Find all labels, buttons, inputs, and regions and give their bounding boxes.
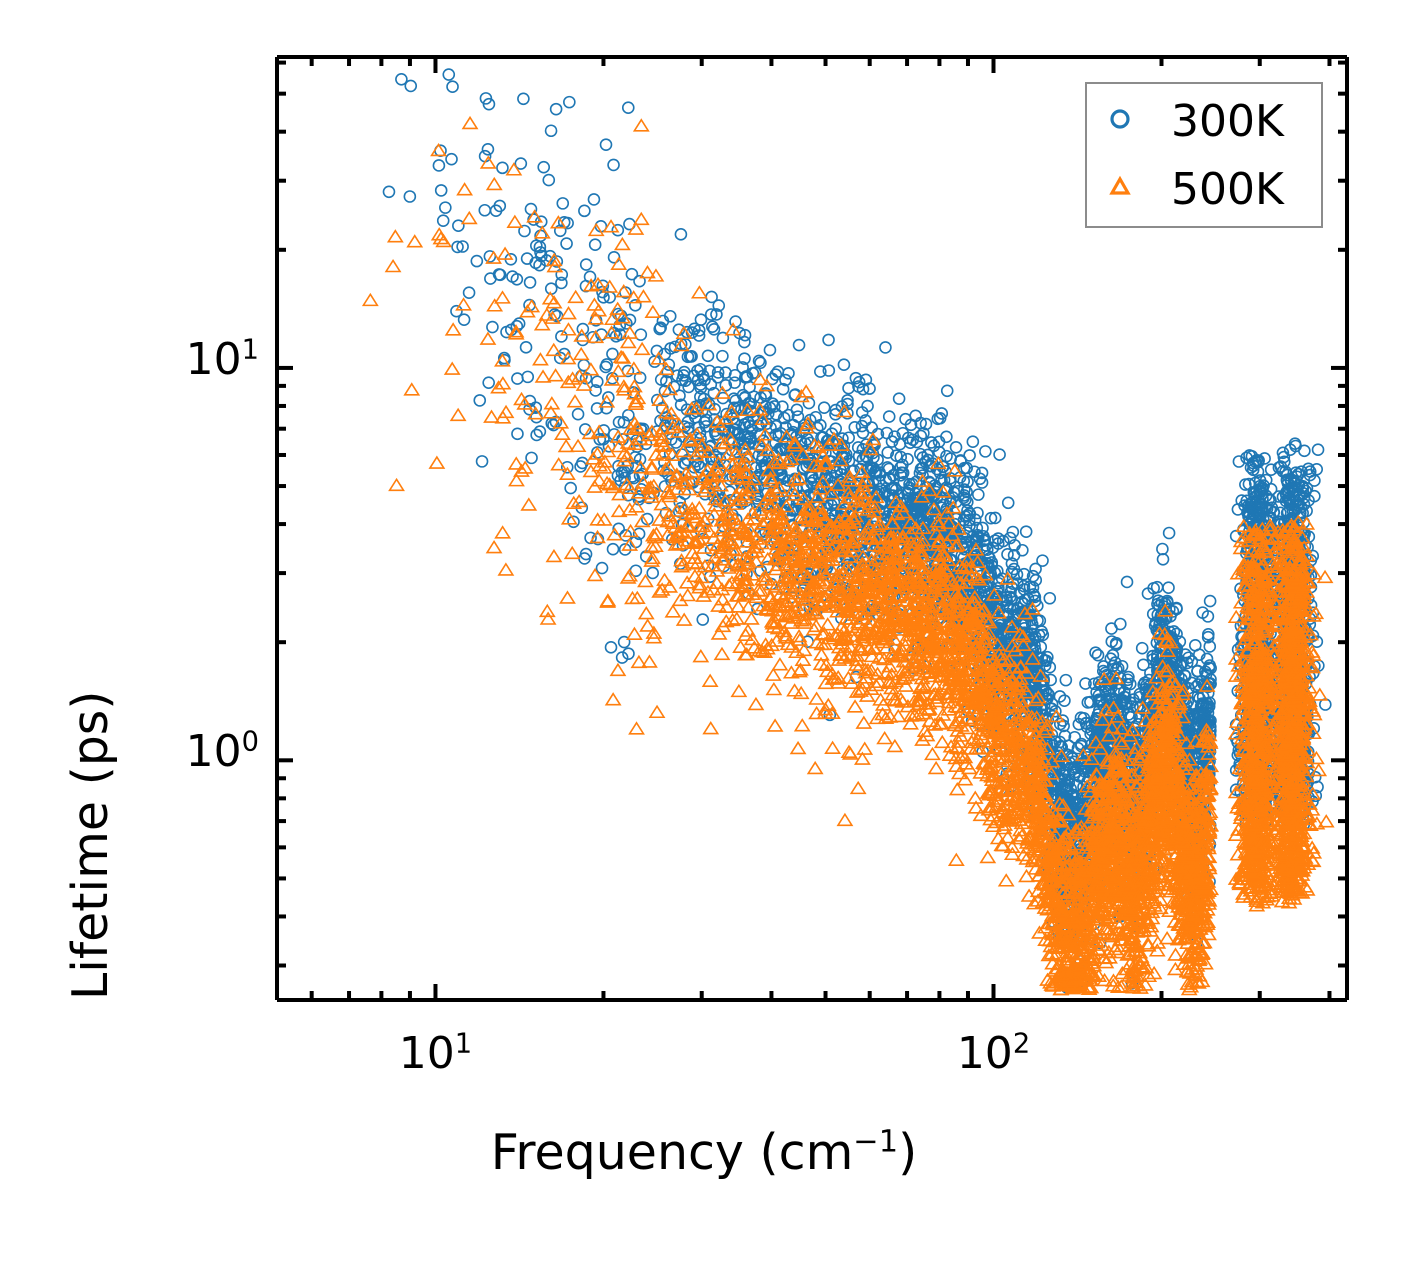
xtick-label-1: 102 [894,1028,1094,1079]
legend[interactable]: 300K 500K [1085,82,1323,228]
open-circle-marker-icon [1097,104,1143,138]
legend-label-300k: 300K [1143,96,1284,147]
ytick-label-0: 101 [59,334,259,385]
open-triangle-marker-icon [1097,172,1143,206]
series-500k [363,117,1333,994]
xtick-label-0: 101 [335,1028,535,1079]
legend-label-500k: 500K [1143,164,1284,215]
figure-canvas: 101 102 101 100 Frequency (cm−1) Lifetim… [0,0,1408,1265]
y-axis-label: Lifetime (ps) [62,691,119,1000]
x-axis-label: Frequency (cm−1) [0,1124,1408,1181]
legend-entry-500k[interactable]: 500K [1097,160,1284,218]
legend-entry-300k[interactable]: 300K [1097,92,1284,150]
